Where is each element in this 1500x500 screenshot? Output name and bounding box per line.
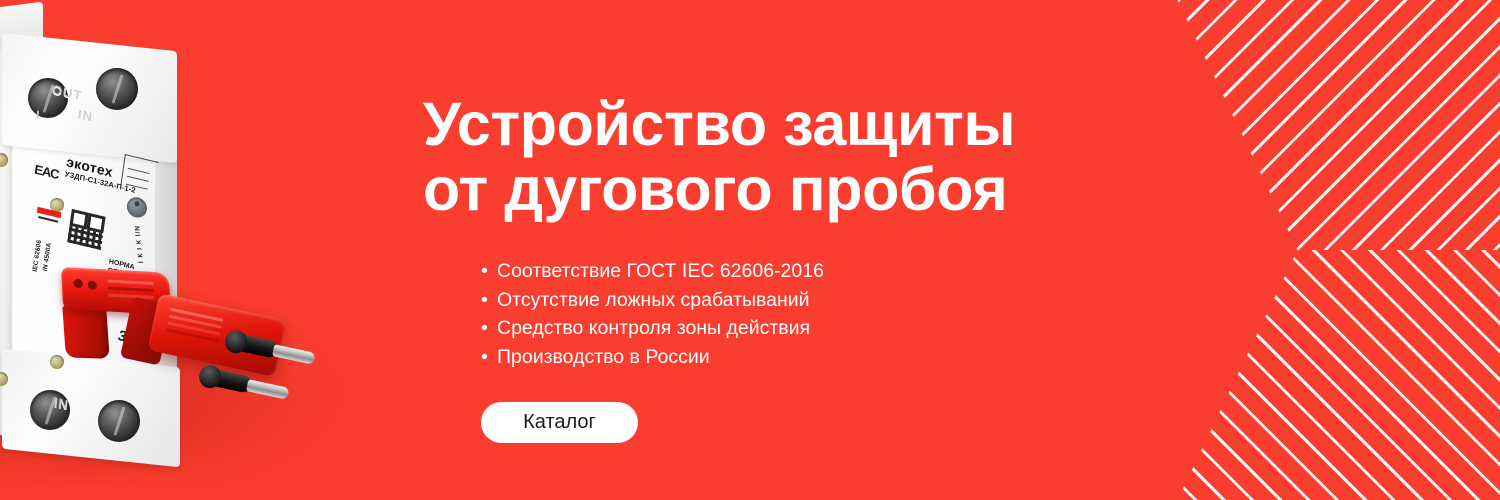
list-item-label: Средство контроля зоны действия [497,317,810,339]
bullet-icon: • [481,286,488,315]
pattern-stripes-bottom [1177,250,1500,500]
test-dial-icon [126,195,149,219]
catalog-button[interactable]: Каталог [481,402,638,443]
list-item-label: Соответствие ГОСТ IEC 62606-2016 [497,260,824,282]
pattern-apex-mask-top [1177,0,1297,250]
pattern-top-half [1177,0,1500,250]
pattern-apex-mask-bottom [1177,250,1297,500]
list-item: • Производство в России [481,343,824,372]
bullet-icon: • [481,314,488,343]
feature-list: • Соответствие ГОСТ IEC 62606-2016 • Отс… [481,257,824,371]
promo-banner: ЭКОТЕХ OUT IN IN I ЕАС экотех УЗДП-С1-32… [0,0,1500,500]
banner-content: Устройство защиты от дугового пробоя • С… [423,0,1123,500]
qr-code-icon [67,209,105,250]
list-item: • Соответствие ГОСТ IEC 62606-2016 [481,257,824,286]
test-lever-stem [62,305,110,359]
terminal-label-in-bottom: IN [53,394,69,412]
terminal-hole [98,400,140,442]
list-item: • Средство контроля зоны действия [481,314,824,343]
pattern-bottom-half [1177,250,1500,500]
bullet-icon: • [481,343,488,372]
chevron-stripes-pattern [1177,0,1500,500]
list-item: • Отсутствие ложных срабатываний [481,286,824,315]
banner-headline: Устройство защиты от дугового пробоя [423,92,1113,221]
product-image: ЭКОТЕХ OUT IN IN I ЕАС экотех УЗДП-С1-32… [0,0,420,500]
list-item-label: Отсутствие ложных срабатываний [497,289,810,311]
label-red-stripe [37,207,62,218]
label-vertical-text-2: IN 4500A [42,242,53,272]
terminal-hole [96,68,138,110]
pattern-stripes-top [1177,0,1500,250]
list-item-label: Производство в России [497,346,710,368]
terminal-label-in-top: IN [77,106,93,124]
bullet-icon: • [481,257,488,286]
eac-certification-mark: ЕАС [34,162,60,182]
